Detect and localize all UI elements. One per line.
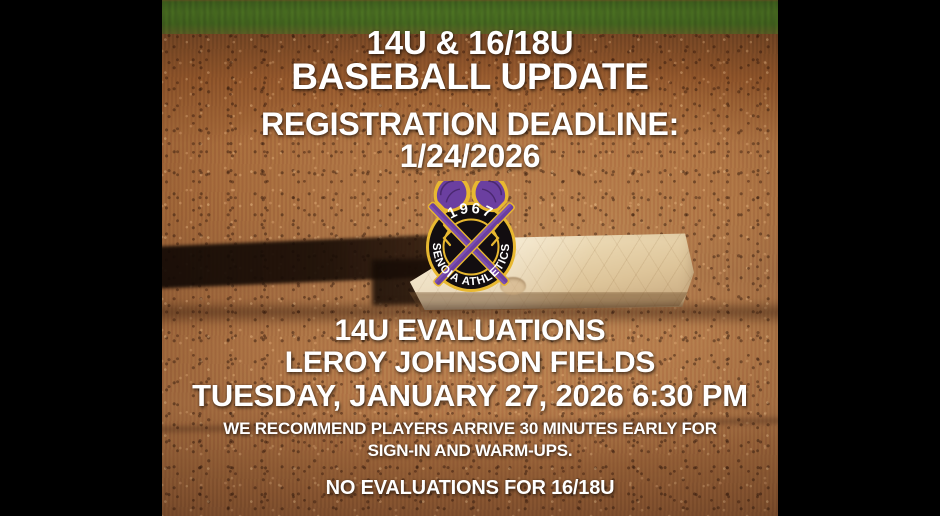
letterbox-left bbox=[0, 0, 162, 516]
evaluations-datetime: TUESDAY, JANUARY 27, 2026 6:30 PM bbox=[162, 380, 778, 412]
senoia-athletics-logo-icon: 1967 SENOIA ATHLETICS bbox=[404, 181, 538, 307]
no-evaluations-notice: NO EVALUATIONS FOR 16/18U bbox=[162, 478, 778, 498]
flyer-stage: 1967 SENOIA ATHLETICS 14U & 16/18U BASEB… bbox=[0, 0, 940, 516]
evaluations-title: 14U EVALUATIONS bbox=[162, 316, 778, 347]
arrival-note-line-2: SIGN-IN AND WARM-UPS. bbox=[162, 442, 778, 459]
registration-deadline-label: REGISTRATION DEADLINE: bbox=[162, 108, 778, 141]
headline-line-1: 14U & 16/18U bbox=[162, 26, 778, 60]
letterbox-right bbox=[778, 0, 940, 516]
headline-line-2: BASEBALL UPDATE bbox=[162, 58, 778, 96]
evaluations-location: LEROY JOHNSON FIELDS bbox=[162, 348, 778, 379]
registration-deadline-date: 1/24/2026 bbox=[162, 140, 778, 173]
arrival-note-line-1: WE RECOMMEND PLAYERS ARRIVE 30 MINUTES E… bbox=[162, 420, 778, 437]
